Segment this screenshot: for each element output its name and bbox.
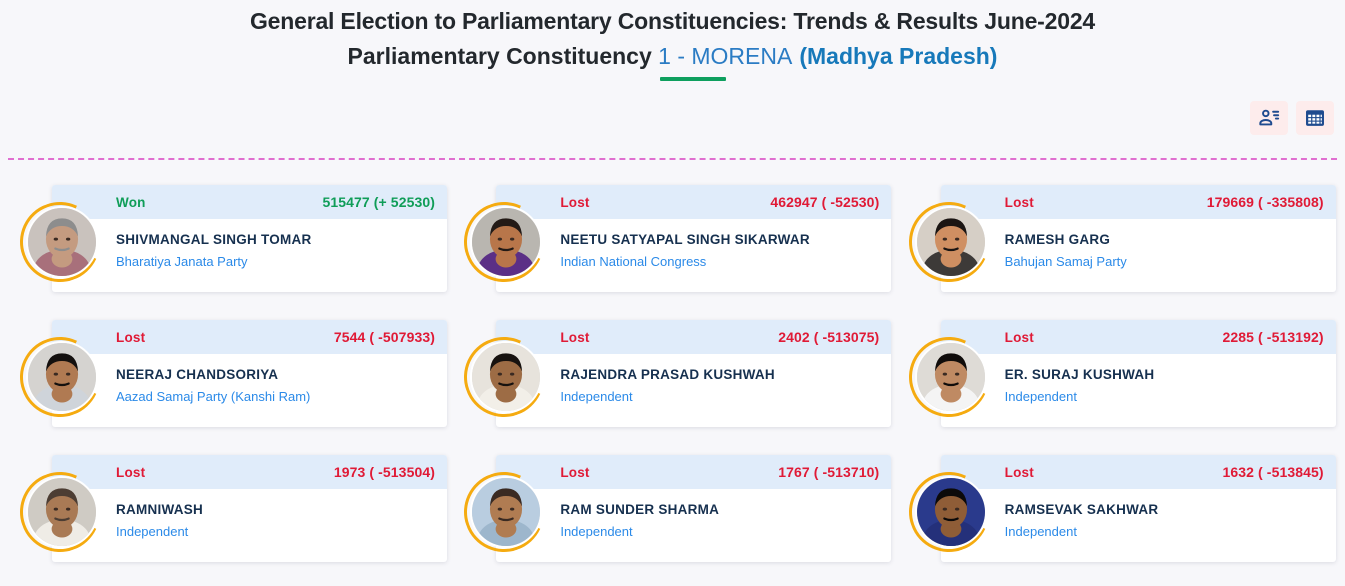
card-row: Won515477 (+ 52530)SHIVMANGAL SINGH TOMA… bbox=[6, 181, 1339, 316]
candidate-card-cell: Lost1973 ( -513504)RAMNIWASHIndependent bbox=[6, 451, 450, 586]
status-badge: Lost bbox=[1005, 195, 1034, 210]
candidate-party[interactable]: Bharatiya Janata Party bbox=[116, 254, 435, 270]
candidate-name: NEETU SATYAPAL SINGH SIKARWAR bbox=[560, 231, 879, 248]
constituency-label: Parliamentary Constituency bbox=[348, 43, 659, 69]
candidate-wise-view-button[interactable] bbox=[1250, 101, 1288, 135]
candidate-card-cell: Lost1767 ( -513710)RAM SUNDER SHARMAInde… bbox=[450, 451, 894, 586]
status-badge: Lost bbox=[560, 465, 589, 480]
status-badge: Lost bbox=[560, 330, 589, 345]
avatar[interactable] bbox=[464, 202, 544, 282]
avatar[interactable] bbox=[464, 472, 544, 552]
candidate-card[interactable]: Lost1632 ( -513845)RAMSEVAK SAKHWARIndep… bbox=[941, 455, 1336, 562]
candidate-card-header: Won515477 (+ 52530) bbox=[52, 185, 447, 219]
status-badge: Lost bbox=[116, 465, 145, 480]
status-badge: Lost bbox=[1005, 465, 1034, 480]
candidate-card[interactable]: Lost179669 ( -335808)RAMESH GARGBahujan … bbox=[941, 185, 1336, 292]
candidate-photo bbox=[26, 341, 98, 413]
candidate-name: RAMNIWASH bbox=[116, 501, 435, 518]
candidate-card-cell: Lost7544 ( -507933)NEERAJ CHANDSORIYAAaz… bbox=[6, 316, 450, 451]
candidate-card-cell: Lost1632 ( -513845)RAMSEVAK SAKHWARIndep… bbox=[895, 451, 1339, 586]
candidate-party[interactable]: Indian National Congress bbox=[560, 254, 879, 270]
candidate-card-cell: Won515477 (+ 52530)SHIVMANGAL SINGH TOMA… bbox=[6, 181, 450, 316]
candidate-photo bbox=[915, 206, 987, 278]
candidate-photo bbox=[26, 206, 98, 278]
card-row: Lost1973 ( -513504)RAMNIWASHIndependentL… bbox=[6, 451, 1339, 586]
vote-count: 1973 ( -513504) bbox=[334, 464, 435, 480]
candidate-party[interactable]: Independent bbox=[560, 524, 879, 540]
grid-view-button[interactable] bbox=[1296, 101, 1334, 135]
section-divider bbox=[8, 158, 1337, 160]
constituency-subtitle: Parliamentary Constituency 1 - MORENA(Ma… bbox=[0, 41, 1345, 72]
candidate-card-body: RAM SUNDER SHARMAIndependent bbox=[496, 489, 891, 540]
candidate-photo bbox=[470, 206, 542, 278]
candidate-card[interactable]: Lost1767 ( -513710)RAM SUNDER SHARMAInde… bbox=[496, 455, 891, 562]
candidate-card-body: RAMSEVAK SAKHWARIndependent bbox=[941, 489, 1336, 540]
active-underline bbox=[660, 77, 726, 81]
vote-count: 1632 ( -513845) bbox=[1223, 464, 1324, 480]
vote-count: 179669 ( -335808) bbox=[1207, 194, 1324, 210]
candidate-party[interactable]: Independent bbox=[1005, 524, 1324, 540]
candidate-name: SHIVMANGAL SINGH TOMAR bbox=[116, 231, 435, 248]
candidate-photo bbox=[470, 341, 542, 413]
vote-count: 2285 ( -513192) bbox=[1223, 329, 1324, 345]
candidate-name: RAJENDRA PRASAD KUSHWAH bbox=[560, 366, 879, 383]
view-toolbar bbox=[1250, 101, 1334, 135]
avatar[interactable] bbox=[909, 472, 989, 552]
candidate-card-cell: Lost179669 ( -335808)RAMESH GARGBahujan … bbox=[895, 181, 1339, 316]
candidate-name: RAM SUNDER SHARMA bbox=[560, 501, 879, 518]
candidate-card-body: ER. SURAJ KUSHWAHIndependent bbox=[941, 354, 1336, 405]
candidate-card-header: Lost7544 ( -507933) bbox=[52, 320, 447, 354]
candidate-card-body: SHIVMANGAL SINGH TOMARBharatiya Janata P… bbox=[52, 219, 447, 270]
candidate-party[interactable]: Independent bbox=[1005, 389, 1324, 405]
vote-count: 1767 ( -513710) bbox=[778, 464, 879, 480]
avatar[interactable] bbox=[909, 337, 989, 417]
candidate-card-header: Lost179669 ( -335808) bbox=[941, 185, 1336, 219]
candidate-card-header: Lost1767 ( -513710) bbox=[496, 455, 891, 489]
candidate-card[interactable]: Lost2402 ( -513075)RAJENDRA PRASAD KUSHW… bbox=[496, 320, 891, 427]
candidate-card-body: NEERAJ CHANDSORIYAAazad Samaj Party (Kan… bbox=[52, 354, 447, 405]
candidate-card-header: Lost462947 ( -52530) bbox=[496, 185, 891, 219]
vote-count: 2402 ( -513075) bbox=[778, 329, 879, 345]
status-badge: Won bbox=[116, 195, 146, 210]
candidate-card-body: RAMESH GARGBahujan Samaj Party bbox=[941, 219, 1336, 270]
candidate-card-cell: Lost2402 ( -513075)RAJENDRA PRASAD KUSHW… bbox=[450, 316, 894, 451]
candidate-photo bbox=[915, 341, 987, 413]
status-badge: Lost bbox=[116, 330, 145, 345]
candidate-card-cell: Lost2285 ( -513192)ER. SURAJ KUSHWAHInde… bbox=[895, 316, 1339, 451]
candidate-card-header: Lost2402 ( -513075) bbox=[496, 320, 891, 354]
avatar[interactable] bbox=[20, 202, 100, 282]
candidate-party[interactable]: Aazad Samaj Party (Kanshi Ram) bbox=[116, 389, 435, 405]
state-name: (Madhya Pradesh) bbox=[799, 43, 997, 69]
avatar[interactable] bbox=[20, 472, 100, 552]
candidate-name: NEERAJ CHANDSORIYA bbox=[116, 366, 435, 383]
candidate-name: ER. SURAJ KUSHWAH bbox=[1005, 366, 1324, 383]
candidate-cards-grid: Won515477 (+ 52530)SHIVMANGAL SINGH TOMA… bbox=[0, 181, 1345, 586]
candidate-party[interactable]: Bahujan Samaj Party bbox=[1005, 254, 1324, 270]
status-badge: Lost bbox=[1005, 330, 1034, 345]
candidate-card-body: RAMNIWASHIndependent bbox=[52, 489, 447, 540]
candidate-card-header: Lost1973 ( -513504) bbox=[52, 455, 447, 489]
candidate-card[interactable]: Won515477 (+ 52530)SHIVMANGAL SINGH TOMA… bbox=[52, 185, 447, 292]
constituency-name: 1 - MORENA bbox=[658, 43, 792, 69]
candidate-name: RAMSEVAK SAKHWAR bbox=[1005, 501, 1324, 518]
avatar[interactable] bbox=[909, 202, 989, 282]
candidate-name: RAMESH GARG bbox=[1005, 231, 1324, 248]
candidate-card[interactable]: Lost2285 ( -513192)ER. SURAJ KUSHWAHInde… bbox=[941, 320, 1336, 427]
avatar[interactable] bbox=[20, 337, 100, 417]
candidate-card-header: Lost2285 ( -513192) bbox=[941, 320, 1336, 354]
candidate-card-body: RAJENDRA PRASAD KUSHWAHIndependent bbox=[496, 354, 891, 405]
candidate-card-body: NEETU SATYAPAL SINGH SIKARWARIndian Nati… bbox=[496, 219, 891, 270]
candidate-card[interactable]: Lost1973 ( -513504)RAMNIWASHIndependent bbox=[52, 455, 447, 562]
candidate-card[interactable]: Lost7544 ( -507933)NEERAJ CHANDSORIYAAaz… bbox=[52, 320, 447, 427]
constituency-grid-icon bbox=[1304, 107, 1326, 129]
candidate-photo bbox=[915, 476, 987, 548]
candidate-photo bbox=[470, 476, 542, 548]
candidate-party[interactable]: Independent bbox=[560, 389, 879, 405]
page-header: General Election to Parliamentary Consti… bbox=[0, 0, 1345, 72]
vote-count: 515477 (+ 52530) bbox=[322, 194, 435, 210]
candidate-card-cell: Lost462947 ( -52530)NEETU SATYAPAL SINGH… bbox=[450, 181, 894, 316]
candidate-card-header: Lost1632 ( -513845) bbox=[941, 455, 1336, 489]
candidate-card[interactable]: Lost462947 ( -52530)NEETU SATYAPAL SINGH… bbox=[496, 185, 891, 292]
candidate-photo bbox=[26, 476, 98, 548]
status-badge: Lost bbox=[560, 195, 589, 210]
constituency-name-wrapper: 1 - MORENA bbox=[658, 41, 792, 72]
card-row: Lost7544 ( -507933)NEERAJ CHANDSORIYAAaz… bbox=[6, 316, 1339, 451]
candidate-wise-icon bbox=[1258, 107, 1280, 129]
vote-count: 7544 ( -507933) bbox=[334, 329, 435, 345]
candidate-party[interactable]: Independent bbox=[116, 524, 435, 540]
avatar[interactable] bbox=[464, 337, 544, 417]
page-title: General Election to Parliamentary Consti… bbox=[0, 6, 1345, 37]
vote-count: 462947 ( -52530) bbox=[770, 194, 879, 210]
